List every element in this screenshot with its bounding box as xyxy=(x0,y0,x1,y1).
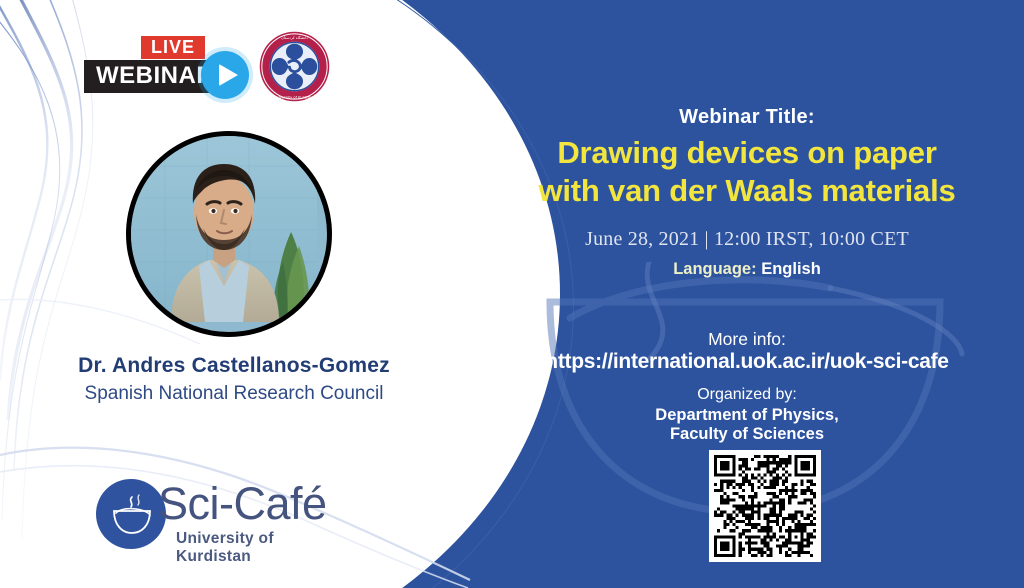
more-info-label: More info: xyxy=(470,329,1024,350)
seal-icon: دانشگاه کردستان University of Kurdistan xyxy=(259,31,330,102)
talk-title-line-1: Drawing devices on paper xyxy=(470,134,1024,172)
organized-by-label: Organized by: xyxy=(470,386,1024,404)
live-label: LIVE xyxy=(141,36,205,59)
organizer-line-2: Faculty of Sciences xyxy=(470,425,1024,444)
university-of-kurdistan-seal: دانشگاه کردستان University of Kurdistan xyxy=(259,31,330,102)
speaker-portrait-icon xyxy=(131,136,317,322)
speaker-name: Dr. Andres Castellanos-Gomez xyxy=(0,354,468,378)
live-webinar-badge: LIVE WEBINAR xyxy=(84,36,254,94)
qr-code[interactable] xyxy=(709,450,821,562)
talk-title: Drawing devices on paper with van der Wa… xyxy=(470,134,1024,210)
language-label: Language: xyxy=(673,260,756,278)
talk-title-line-2: with van der Waals materials xyxy=(470,172,1024,210)
coffee-cup-icon xyxy=(96,479,166,549)
language-line: Language: English xyxy=(470,260,1024,279)
language-value: English xyxy=(761,260,821,278)
coffee-cup-glyph xyxy=(96,479,166,549)
webinar-poster: LIVE WEBINAR دانشگاه کردستان University … xyxy=(0,0,1024,588)
play-triangle-icon xyxy=(219,64,238,86)
sci-cafe-logo: Sci-Café University of Kurdistan xyxy=(96,477,336,555)
webinar-title-label: Webinar Title: xyxy=(470,106,1024,129)
svg-text:دانشگاه کردستان: دانشگاه کردستان xyxy=(281,35,308,40)
sci-cafe-wordmark: Sci-Café xyxy=(158,481,327,526)
sci-cafe-subtitle: University of Kurdistan xyxy=(176,530,336,566)
right-panel-content: Webinar Title: Drawing devices on paper … xyxy=(470,0,1024,588)
svg-text:University of Kurdistan: University of Kurdistan xyxy=(274,95,317,99)
more-info-url[interactable]: https://international.uok.ac.ir/uok-sci-… xyxy=(470,350,1024,374)
organizer-line-1: Department of Physics, xyxy=(470,406,1024,425)
qr-code-icon xyxy=(714,455,816,557)
date-time: June 28, 2021 | 12:00 IRST, 10:00 CET xyxy=(470,228,1024,251)
right-blue-panel: Webinar Title: Drawing devices on paper … xyxy=(470,0,1024,588)
speaker-affiliation: Spanish National Research Council xyxy=(0,383,468,405)
play-icon[interactable] xyxy=(201,51,249,99)
speaker-photo xyxy=(126,131,332,337)
